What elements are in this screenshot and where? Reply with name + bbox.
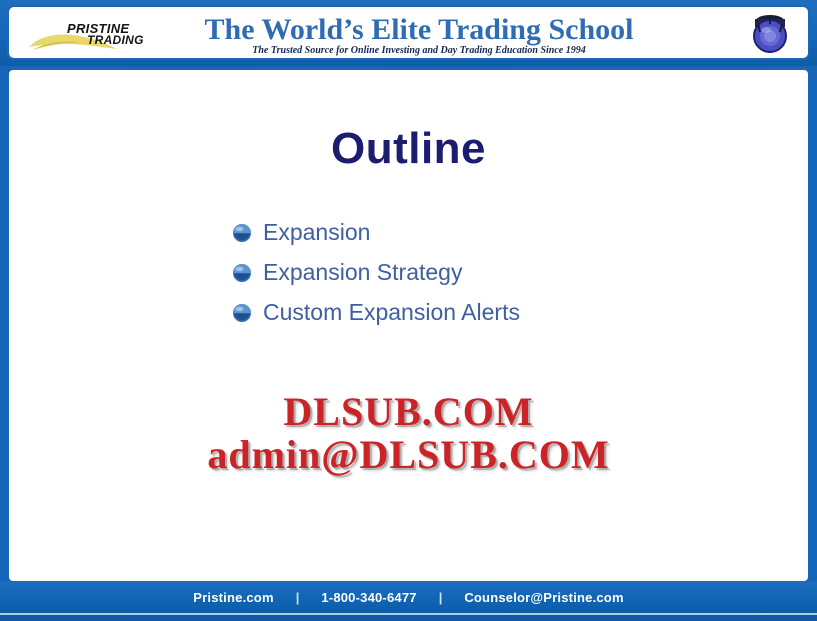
footer-phone[interactable]: 1-800-340-6477 [321,590,416,605]
footer-email[interactable]: Counselor@Pristine.com [464,590,623,605]
list-item[interactable]: Expansion [231,212,691,252]
footer-bar: Pristine.com | 1-800-340-6477 | Counselo… [0,581,817,621]
list-item-label: Custom Expansion Alerts [263,299,520,326]
blue-crest-seal-icon [746,10,794,58]
blue-sphere-bullet-icon [231,302,253,324]
list-item[interactable]: Expansion Strategy [231,252,691,292]
header-band: PRISTINE TRADING The World’s Elite Tradi… [0,0,817,66]
presentation-slide: PRISTINE TRADING The World’s Elite Tradi… [0,0,817,621]
footer-base-strip [0,616,817,621]
footer-separator: | [417,590,465,605]
blue-sphere-bullet-icon [231,262,253,284]
header-subtitle: The Trusted Source for Online Investing … [159,45,679,56]
list-item-label: Expansion Strategy [263,259,462,286]
list-item-label: Expansion [263,219,370,246]
list-item[interactable]: Custom Expansion Alerts [231,292,691,332]
page-title: Outline [9,124,808,174]
footer-separator: | [274,590,322,605]
footer-content: Pristine.com | 1-800-340-6477 | Counselo… [0,586,817,608]
watermark-email: admin@DLSUB.COM [9,433,808,476]
watermark-site: DLSUB.COM [9,390,808,433]
header-plate: PRISTINE TRADING The World’s Elite Tradi… [7,5,810,60]
footer-website[interactable]: Pristine.com [193,590,273,605]
logo-text-line2: TRADING [87,33,144,47]
outline-bullet-list: Expansion Expansion Strategy C [231,212,691,332]
watermark: DLSUB.COM admin@DLSUB.COM [9,390,808,476]
pristine-logo[interactable]: PRISTINE TRADING [23,12,145,56]
header-title: The World’s Elite Trading School [159,13,679,47]
blue-sphere-bullet-icon [231,222,253,244]
footer-divider [0,613,817,615]
slide-body: Outline Expansion Expansion Str [7,68,810,583]
